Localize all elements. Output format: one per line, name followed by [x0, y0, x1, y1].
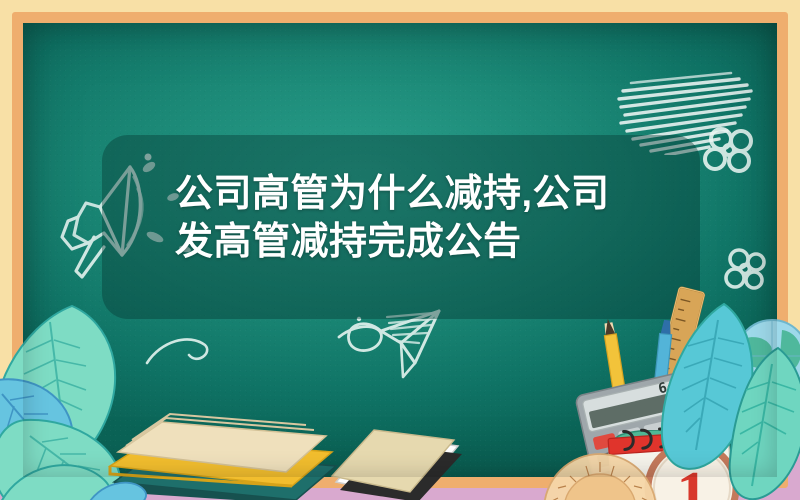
- notebook-right: [330, 412, 470, 500]
- protractor: [540, 452, 660, 500]
- headline-text: 公司高管为什么减持,公司发高管减持完成公告: [175, 170, 645, 266]
- leaf-cluster-lower-left: [0, 438, 150, 500]
- banner-image: 公司高管为什么减持,公司发高管减持完成公告: [0, 0, 800, 500]
- leaf-cluster-right: [660, 300, 800, 500]
